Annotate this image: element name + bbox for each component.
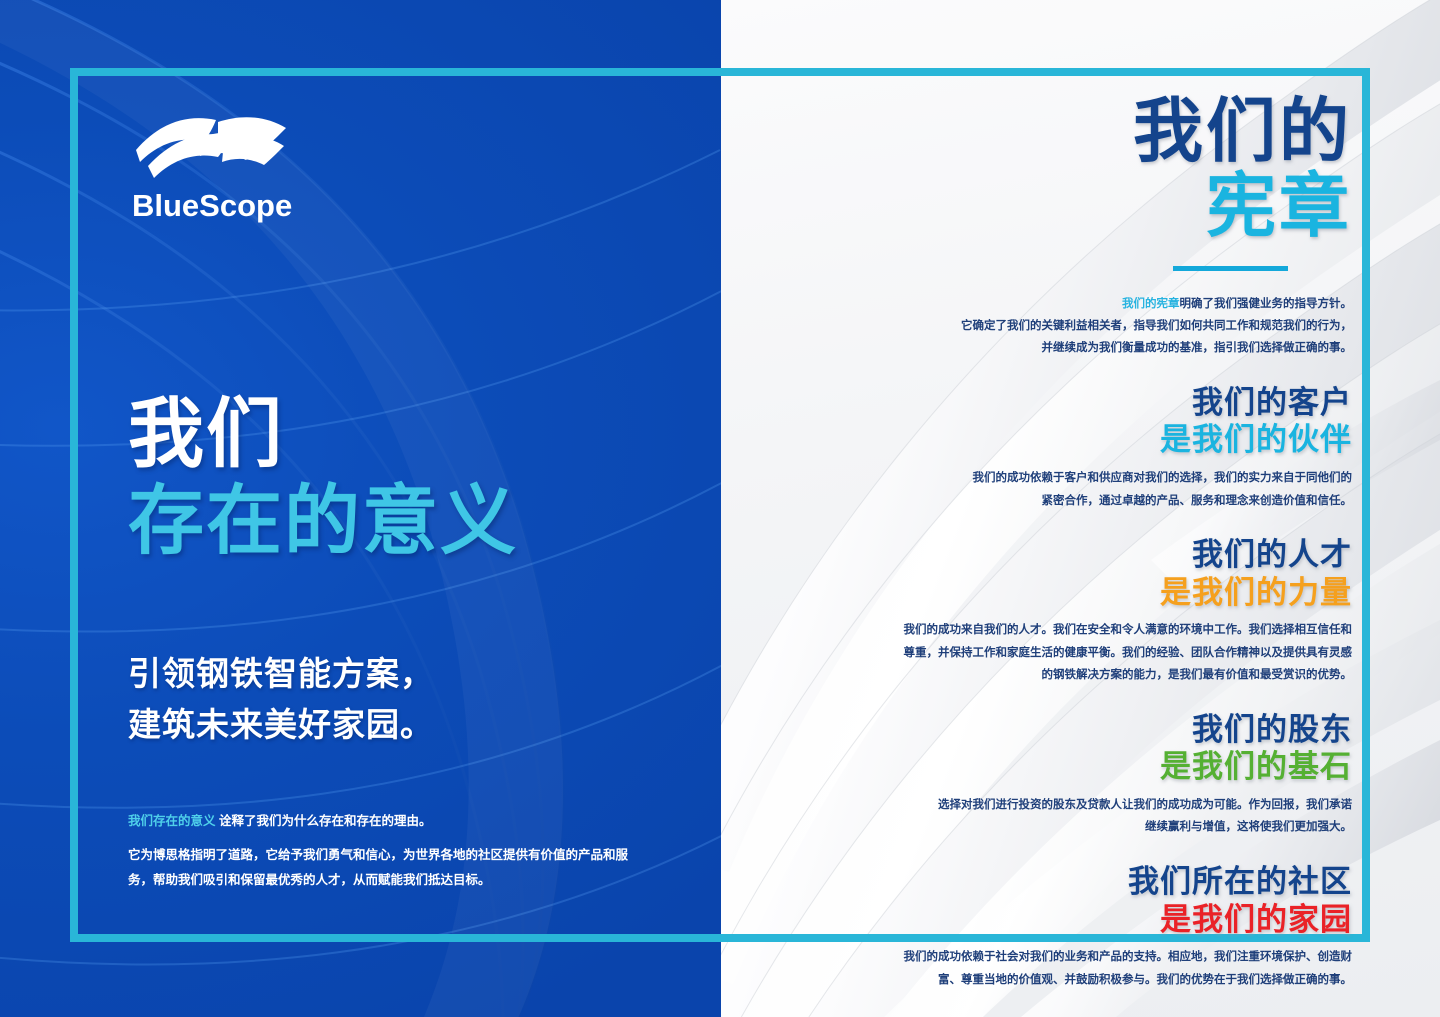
left-heading-line2: 存在的意义 [128,482,648,562]
section-heading-top: 我们的客户 [792,386,1352,421]
left-body-paragraph: 它为博思格指明了道路，它给予我们勇气和信心，为世界各地的社区提供有价值的产品和服… [128,843,628,893]
charter-title-line2: 宪章 [792,170,1352,244]
charter-intro-line2: 它确定了我们的关键利益相关者，指导我们如何共同工作和规范我们的行为， [792,315,1352,337]
section-body-line2: 富、尊重当地的价值观、并鼓励积极参与。我们的优势在于我们选择做正确的事。 [792,969,1352,991]
left-body-block: 我们存在的意义 诠释了我们为什么存在和存在的理由。 它为博思格指明了道路，它给予… [128,810,628,893]
charter-intro-line3: 并继续成为我们衡量成功的基准，指引我们选择做正确的事。 [792,337,1352,359]
section-body: 我们的成功依赖于客户和供应商对我们的选择，我们的实力来自于同他们的 紧密合作，通… [792,467,1352,512]
left-tagline-line1: 引领钢铁智能方案， [128,648,648,699]
section-heading-bottom: 是我们的伙伴 [792,422,1352,458]
section-body: 选择对我们进行投资的股东及贷款人让我们的成功成为可能。作为回报，我们承诺 继续赢… [792,794,1352,839]
section-body-line1: 我们的成功来自我们的人才。我们在安全和令人满意的环境中工作。我们选择相互信任和 [792,619,1352,641]
left-headline-block: 我们 存在的意义 引领钢铁智能方案， 建筑未来美好家园。 [128,398,648,751]
charter-title-line1: 我们的 [792,96,1352,166]
brand-logo: BlueScope [130,108,430,224]
section-body-line2: 继续赢利与增值，这将使我们更加强大。 [792,816,1352,838]
poster-canvas: BlueScope 我们 存在的意义 引领钢铁智能方案， 建筑未来美好家园。 我… [0,0,1440,1017]
section-heading-top: 我们的人才 [792,538,1352,573]
bluescope-ribbon-logo-icon [130,108,290,184]
charter-section-communities: 我们所在的社区 是我们的家园 我们的成功依赖于社会对我们的业务和产品的支持。相应… [792,865,1352,991]
section-body-line1: 我们的成功依赖于社会对我们的业务和产品的支持。相应地，我们注重环境保护、创造财 [792,946,1352,968]
section-body-line1: 我们的成功依赖于客户和供应商对我们的选择，我们的实力来自于同他们的 [792,467,1352,489]
section-body-line3: 的钢铁解决方案的能力，是我们最有价值和最受赏识的优势。 [792,664,1352,686]
left-blue-panel: BlueScope 我们 存在的意义 引领钢铁智能方案， 建筑未来美好家园。 我… [0,0,721,1017]
section-heading-bottom: 是我们的家园 [792,902,1352,938]
brand-wordmark: BlueScope [132,188,430,224]
left-tagline: 引领钢铁智能方案， 建筑未来美好家园。 [128,648,648,750]
charter-title-underline [1173,266,1288,271]
charter-section-people: 我们的人才 是我们的力量 我们的成功来自我们的人才。我们在安全和令人满意的环境中… [792,538,1352,687]
charter-intro-highlight: 我们的宪章 [1122,298,1180,310]
section-heading-bottom: 是我们的基石 [792,749,1352,785]
section-body-line2: 紧密合作，通过卓越的产品、服务和理念来创造价值和信任。 [792,490,1352,512]
left-body-lead: 我们存在的意义 诠释了我们为什么存在和存在的理由。 [128,810,628,833]
charter-section-shareholders: 我们的股东 是我们的基石 选择对我们进行投资的股东及贷款人让我们的成功成为可能。… [792,713,1352,839]
charter-intro: 我们的宪章明确了我们强健业务的指导方针。 它确定了我们的关键利益相关者，指导我们… [792,293,1352,360]
charter-section-customers: 我们的客户 是我们的伙伴 我们的成功依赖于客户和供应商对我们的选择，我们的实力来… [792,386,1352,512]
section-body-line2: 尊重，并保持工作和家庭生活的健康平衡。我们的经验、团队合作精神以及提供具有灵感 [792,642,1352,664]
charter-content: 我们的 宪章 我们的宪章明确了我们强健业务的指导方针。 它确定了我们的关键利益相… [792,96,1352,991]
section-heading-top: 我们的股东 [792,713,1352,748]
charter-intro-line1: 我们的宪章明确了我们强健业务的指导方针。 [792,293,1352,315]
section-body: 我们的成功依赖于社会对我们的业务和产品的支持。相应地，我们注重环境保护、创造财 … [792,946,1352,991]
left-tagline-line2: 建筑未来美好家园。 [128,699,648,750]
charter-intro-line1-rest: 明确了我们强健业务的指导方针。 [1180,298,1353,310]
right-white-panel: 我们的 宪章 我们的宪章明确了我们强健业务的指导方针。 它确定了我们的关键利益相… [721,0,1440,1017]
left-body-highlight: 我们存在的意义 [128,814,216,828]
left-body-lead-rest: 诠释了我们为什么存在和存在的理由。 [219,814,432,828]
section-body-line1: 选择对我们进行投资的股东及贷款人让我们的成功成为可能。作为回报，我们承诺 [792,794,1352,816]
section-heading-bottom: 是我们的力量 [792,575,1352,611]
section-body: 我们的成功来自我们的人才。我们在安全和令人满意的环境中工作。我们选择相互信任和 … [792,619,1352,686]
section-heading-top: 我们所在的社区 [792,865,1352,900]
left-heading-line1: 我们 [128,398,648,472]
